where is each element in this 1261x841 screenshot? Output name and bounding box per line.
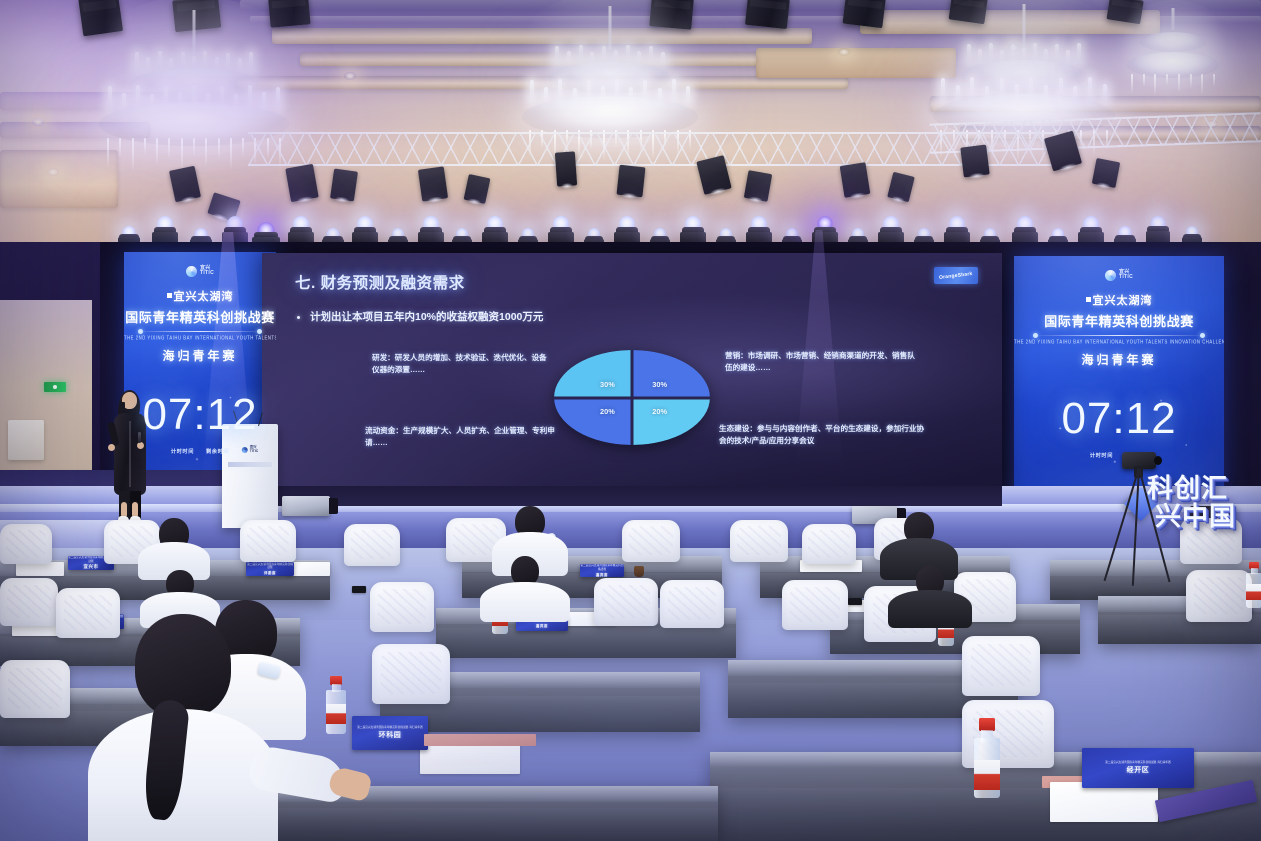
logo-text-en: TITIC	[1119, 274, 1133, 280]
coffee-cup	[634, 566, 644, 577]
chair	[0, 524, 52, 564]
divider-left	[138, 331, 263, 332]
camera-tripod	[1112, 452, 1172, 602]
event-line1-right: 宜兴太湖湾	[1014, 292, 1224, 308]
name-card-title: 宜兴市	[84, 564, 99, 570]
exit-sign[interactable]	[44, 382, 66, 392]
chair	[594, 578, 658, 626]
wall-panel-box	[8, 420, 44, 460]
hanging-spotlight	[840, 162, 871, 198]
desk-pad	[424, 734, 536, 746]
name-card-title: 经开区	[1127, 765, 1150, 775]
name-card: 第二届宜兴太湖湾国际青年精英科创挑战赛·海归青年赛 经开区	[1082, 748, 1194, 788]
water-bottle	[1246, 562, 1261, 604]
slide-label-working-capital: 流动资金：生产规模扩大、人员扩充、企业管理、专利申请……	[365, 425, 565, 449]
moving-head-light	[1146, 216, 1170, 244]
event-line2-right: 国际青年精英科创挑战赛	[1014, 311, 1224, 330]
chair	[622, 520, 680, 562]
chair	[372, 644, 450, 704]
hanging-spotlight	[555, 151, 577, 186]
slide-bullet-item: 计划出让本项目五年内10%的收益权融资1000万元	[297, 310, 607, 325]
event-line2-left: 国际青年精英科创挑战赛	[124, 307, 276, 326]
chair	[782, 580, 848, 630]
chair	[0, 578, 58, 626]
slide-label-research: 研发：研发人员的增加、技术验证、迭代优化、设备仪器的添置……	[372, 352, 548, 376]
event-logo-left: 宜兴 TITIC	[124, 264, 276, 278]
countdown-timer-left: 07:12	[124, 390, 276, 440]
slide-bullet-text: 计划出让本项目五年内10%的收益权融资1000万元	[310, 310, 543, 325]
chair	[370, 582, 434, 632]
pie-slice-label: 20%	[600, 407, 615, 416]
timer-label-left: 计时时间	[1090, 452, 1113, 459]
hanging-spotlight	[285, 164, 318, 202]
countdown-timer-right: 07:12	[1014, 394, 1224, 444]
hanging-spotlight	[960, 145, 989, 178]
pie-slice-label: 30%	[652, 380, 667, 389]
logo-mark-icon	[186, 266, 197, 277]
event-line1-left: 宜兴太湖湾	[124, 288, 276, 304]
slide-title: 七. 财务预测及融资需求	[295, 271, 465, 293]
line-array-speaker	[842, 0, 885, 28]
chair	[730, 520, 788, 562]
name-card: 第二届宜兴太湖湾国际青年精英科创挑战赛 嘉宾席	[580, 564, 624, 577]
pie-slice-marketing: 30%	[632, 350, 710, 398]
name-card-subtitle: 第二届宜兴太湖湾国际青年精英科创挑战赛·海归青年赛	[357, 726, 423, 729]
chair	[1186, 570, 1252, 622]
event-english-left: THE 2ND YIXING TAIHU BAY INTERNATIONAL Y…	[124, 334, 276, 340]
conference-hall-scene: 宜兴 TITIC 宜兴太湖湾 国际青年精英科创挑战赛 THE 2ND YIXIN…	[0, 0, 1261, 841]
pie-slice-label: 20%	[652, 407, 667, 416]
brand-badge-text: OrangeShark	[939, 270, 973, 280]
hanging-spotlight	[617, 165, 646, 198]
chair	[240, 520, 296, 562]
pie-slice-working-capital: 20%	[554, 398, 632, 446]
slide-label-marketing: 营销：市场调研、市场营销、经销商渠道的开发、销售队伍的建设……	[725, 350, 917, 374]
presenter-hand-left	[108, 444, 115, 451]
water-bottle	[974, 718, 1000, 800]
name-card-subtitle: 第二届宜兴太湖湾国际青年精英科创挑战赛	[246, 563, 294, 569]
name-card-subtitle: 第二届宜兴太湖湾国际青年精英科创挑战赛·海归青年赛	[1105, 761, 1171, 764]
bullet-dot-icon	[297, 316, 300, 319]
pie-slice-research: 30%	[554, 350, 632, 398]
mobile-phone	[848, 598, 862, 605]
document-paper	[1050, 782, 1158, 822]
hanging-spotlight	[330, 168, 358, 201]
mobile-phone	[352, 586, 366, 593]
name-card: 第二届宜兴太湖湾国际青年精英科创挑战赛 评委席	[246, 562, 294, 576]
timer-label-right: 剩余时间	[206, 448, 229, 455]
pie-slice-label: 30%	[600, 380, 615, 389]
name-card-title: 环科园	[379, 730, 402, 740]
name-card: 第二届宜兴太湖湾国际青年精英科创挑战赛·海归青年赛 环科园	[352, 716, 428, 750]
crystal-chandelier-small	[1126, 8, 1220, 100]
name-card-title: 嘉宾席	[536, 623, 548, 628]
logo-text-en: TITIC	[200, 270, 214, 276]
divider-right	[1033, 335, 1205, 336]
presentation-screen: 七. 财务预测及融资需求 OrangeShark 计划出让本项目五年内10%的收…	[262, 253, 1002, 490]
event-logo-right: 宜兴 TITIC	[1014, 268, 1224, 282]
name-card-title: 评委席	[264, 570, 276, 575]
hanging-spotlight	[418, 166, 448, 201]
logo-mark-icon	[1105, 270, 1116, 281]
line-array-speaker	[745, 0, 790, 29]
chair	[802, 524, 856, 564]
chair	[0, 660, 70, 718]
slide-brand-badge: OrangeShark	[934, 267, 978, 284]
event-line3-right: 海归青年赛	[1014, 351, 1224, 368]
stage-monitor-speaker	[282, 496, 330, 516]
funding-allocation-pie-chart: 30% 30% 20% 20%	[554, 350, 710, 445]
slide-label-ecosystem: 生态建设：参与与内容创作者、平台的生态建设，参加行业协会的技术/产品/应用分享会…	[719, 423, 931, 447]
timer-label-left: 计时时间	[171, 448, 194, 455]
document-paper	[16, 562, 64, 576]
chair	[962, 636, 1040, 696]
name-card-title: 嘉宾席	[596, 572, 608, 577]
stage-riser	[262, 486, 1002, 506]
pie-slice-ecosystem: 20%	[632, 398, 710, 446]
hanging-spotlight	[744, 170, 772, 202]
event-english-right: THE 2ND YIXING TAIHU BAY INTERNATIONAL Y…	[1014, 338, 1224, 344]
audience-member	[480, 556, 570, 622]
hanging-spotlight	[1092, 158, 1121, 188]
name-card-subtitle: 第二届宜兴太湖湾国际青年精英科创挑战赛	[580, 564, 624, 570]
audience-member	[888, 566, 972, 628]
chair	[660, 580, 724, 628]
chair	[344, 524, 400, 566]
event-line3-left: 海归青年赛	[124, 347, 276, 364]
water-bottle	[326, 676, 346, 734]
